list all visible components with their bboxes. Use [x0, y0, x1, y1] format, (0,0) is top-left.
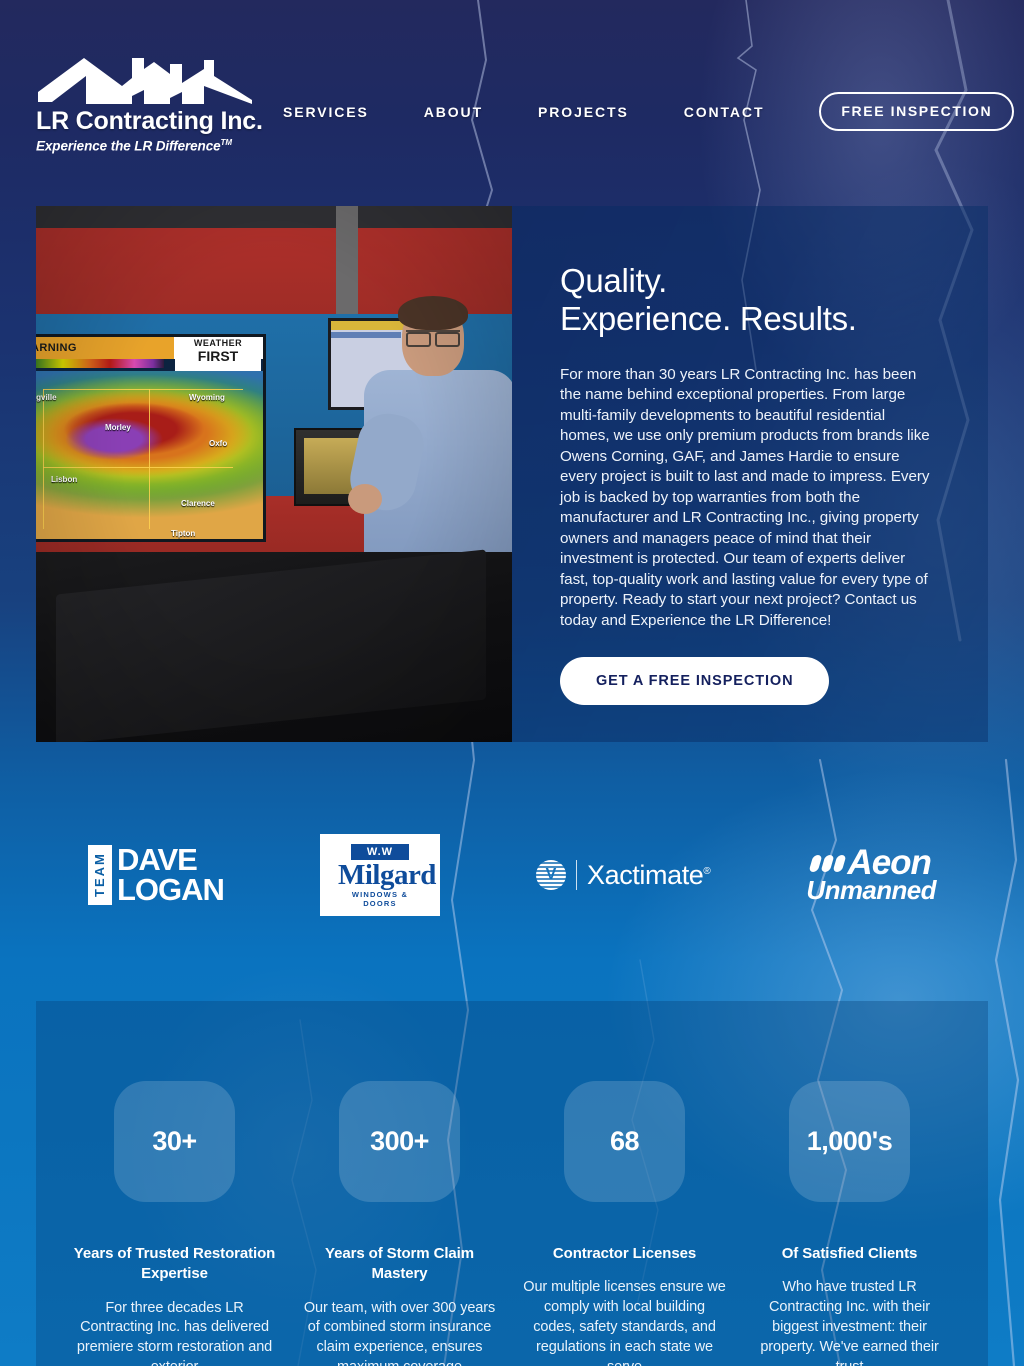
stat-title: Years of Trusted Restoration Expertise — [72, 1244, 277, 1285]
xactimate-logo[interactable]: Xactimate® — [536, 860, 710, 891]
nav-item-contact[interactable]: CONTACT — [684, 104, 765, 120]
milgard-ww-mark: W.W — [351, 844, 409, 860]
stat-description: Our team, with over 300 years of combine… — [297, 1299, 502, 1366]
nav-item-projects[interactable]: PROJECTS — [538, 104, 629, 120]
milgard-brand-name: Milgard — [338, 861, 422, 889]
stat-claim-mastery: 300+ Years of Storm Claim Mastery Our te… — [287, 1081, 512, 1366]
logo-company-name: LR Contracting Inc. — [36, 107, 271, 136]
hero-heading-line-2: Experience. Results. — [560, 300, 857, 337]
site-header: LR Contracting Inc. Experience the LR Di… — [0, 0, 1024, 185]
stat-description: Who have trusted LR Contracting Inc. wit… — [747, 1278, 952, 1366]
tdl-line-1: DAVE — [117, 845, 224, 875]
stat-description: For three decades LR Contracting Inc. ha… — [72, 1299, 277, 1366]
site-logo[interactable]: LR Contracting Inc. Experience the LR Di… — [36, 52, 271, 154]
hero-section: ARNING WEATHER FIRST ingville Wyoming Mo… — [36, 206, 988, 742]
stat-number: 30+ — [152, 1126, 196, 1157]
stat-bubble: 68 — [564, 1081, 685, 1202]
primary-navigation: SERVICES ABOUT PROJECTS CONTACT FREE INS… — [283, 92, 1024, 131]
get-free-inspection-button[interactable]: GET A FREE INSPECTION — [560, 657, 829, 705]
stat-contractor-licenses: 68 Contractor Licenses Our multiple lice… — [512, 1081, 737, 1366]
nav-item-services[interactable]: SERVICES — [283, 104, 369, 120]
weather-studio-scene: ARNING WEATHER FIRST ingville Wyoming Mo… — [36, 206, 512, 742]
stat-bubble: 30+ — [114, 1081, 235, 1202]
stat-title: Contractor Licenses — [522, 1244, 727, 1264]
aeon-unmanned-logo[interactable]: Aeon Unmanned — [806, 847, 936, 903]
milgard-logo[interactable]: W.W Milgard WINDOWS & DOORS — [320, 834, 440, 916]
hero-heading-line-1: Quality. — [560, 262, 667, 299]
stat-number: 300+ — [370, 1126, 429, 1157]
stat-number: 1,000's — [807, 1126, 893, 1157]
roofline-icon — [36, 52, 254, 104]
stat-bubble: 1,000's — [789, 1081, 910, 1202]
xactimate-shield-icon — [536, 860, 566, 890]
aeon-dash-icon — [809, 855, 847, 872]
xactimate-brand-name: Xactimate® — [587, 860, 710, 891]
hero-video-thumbnail[interactable]: ARNING WEATHER FIRST ingville Wyoming Mo… — [36, 206, 512, 742]
team-dave-logan-logo[interactable]: TEAM DAVE LOGAN — [88, 845, 224, 905]
aeon-line-2: Unmanned — [806, 877, 936, 903]
stat-description: Our multiple licenses ensure we comply w… — [522, 1278, 727, 1366]
milgard-subtitle: WINDOWS & DOORS — [338, 890, 422, 908]
stats-panel: 30+ Years of Trusted Restoration Experti… — [36, 1001, 988, 1366]
stat-title: Years of Storm Claim Mastery — [297, 1244, 502, 1285]
stat-years-experience: 30+ Years of Trusted Restoration Experti… — [62, 1081, 287, 1366]
hero-copy: Quality. Experience. Results. For more t… — [512, 206, 988, 742]
video-vignette — [36, 206, 512, 742]
nav-item-about[interactable]: ABOUT — [424, 104, 483, 120]
stat-number: 68 — [610, 1126, 639, 1157]
stat-satisfied-clients: 1,000's Of Satisfied Clients Who have tr… — [737, 1081, 962, 1366]
partner-logo-strip: TEAM DAVE LOGAN W.W Milgard WINDOWS & DO… — [0, 800, 1024, 950]
hero-paragraph: For more than 30 years LR Contracting In… — [560, 365, 930, 632]
hero-heading: Quality. Experience. Results. — [560, 262, 930, 339]
free-inspection-button[interactable]: FREE INSPECTION — [819, 92, 1014, 131]
tdl-line-2: LOGAN — [117, 875, 224, 905]
stat-title: Of Satisfied Clients — [747, 1244, 952, 1264]
tdl-team-text: TEAM — [88, 845, 112, 905]
xactimate-divider — [576, 860, 577, 890]
logo-tagline: Experience the LR DifferenceTM — [36, 138, 271, 154]
stat-bubble: 300+ — [339, 1081, 460, 1202]
